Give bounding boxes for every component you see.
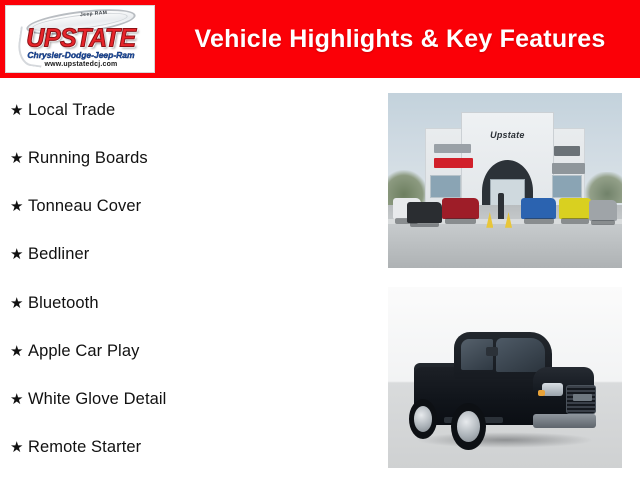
star-icon: ★ [10, 103, 28, 118]
star-icon: ★ [10, 344, 28, 359]
star-icon: ★ [10, 296, 28, 311]
lot-vehicle [589, 200, 617, 221]
star-icon: ★ [10, 247, 28, 262]
showroom-window-left [430, 175, 460, 198]
list-item: ★ Running Boards [0, 134, 380, 182]
feature-label: Apple Car Play [28, 342, 139, 361]
showroom-window-right [552, 175, 582, 198]
chrysler-sign-icon [434, 144, 471, 153]
truck-side-mirror [486, 347, 498, 356]
dealership-scene: Upstate [388, 93, 622, 268]
lot-vehicle [521, 198, 556, 219]
ram-1500-truck-photo [388, 287, 622, 468]
truck-marker-light [538, 390, 545, 395]
logo-wordmark: UPSTATE [11, 25, 151, 51]
list-item: ★ Bedliner [0, 231, 380, 279]
feature-label: Local Trade [28, 101, 115, 120]
list-item: ★ White Glove Detail [0, 376, 380, 424]
list-item: ★ Tonneau Cover [0, 183, 380, 231]
logo-tagline: Chrysler-Dodge-Jeep-Ram [11, 50, 151, 60]
lot-vehicle [442, 198, 479, 219]
dealership-storefront-photo: Upstate [388, 93, 622, 268]
building-sign-text: Upstate [465, 130, 549, 140]
list-item: ★ Bluetooth [0, 279, 380, 327]
truck-front-wheel [451, 403, 486, 450]
lot-vehicle [407, 202, 442, 223]
lot-vehicle [559, 198, 592, 219]
list-item: ★ Remote Starter [0, 424, 380, 472]
truck-ground-shadow [416, 432, 594, 448]
truck-studio-scene [388, 287, 622, 468]
dealer-logo-artwork: Jeep RAM UPSTATE Chrysler-Dodge-Jeep-Ram… [6, 6, 154, 72]
list-item: ★ Apple Car Play [0, 327, 380, 375]
list-item: ★ Local Trade [0, 86, 380, 134]
ram-sign-icon [552, 163, 585, 174]
person [498, 193, 504, 219]
feature-label: Running Boards [28, 149, 148, 168]
dealer-logo[interactable]: Jeep RAM UPSTATE Chrysler-Dodge-Jeep-Ram… [5, 5, 155, 73]
star-icon: ★ [10, 151, 28, 166]
truck-front-bumper [533, 414, 596, 428]
feature-list: ★ Local Trade ★ Running Boards ★ Tonneau… [0, 86, 380, 472]
ram-badge-icon [573, 394, 592, 401]
truck-rear-wheel [409, 399, 437, 439]
star-icon: ★ [10, 392, 28, 407]
feature-label: Tonneau Cover [28, 197, 141, 216]
truck-windshield [496, 338, 545, 372]
feature-label: White Glove Detail [28, 390, 166, 409]
dodge-sign-icon [434, 158, 474, 169]
page-title: Vehicle Highlights & Key Features [160, 0, 640, 78]
feature-label: Bedliner [28, 245, 89, 264]
feature-label: Remote Starter [28, 438, 141, 457]
star-icon: ★ [10, 199, 28, 214]
feature-label: Bluetooth [28, 294, 99, 313]
logo-website-url: www.upstatedcj.com [11, 61, 151, 68]
page-header: Jeep RAM UPSTATE Chrysler-Dodge-Jeep-Ram… [0, 0, 640, 78]
truck-headlight [542, 383, 563, 396]
jeep-sign-icon [554, 146, 580, 157]
star-icon: ★ [10, 440, 28, 455]
